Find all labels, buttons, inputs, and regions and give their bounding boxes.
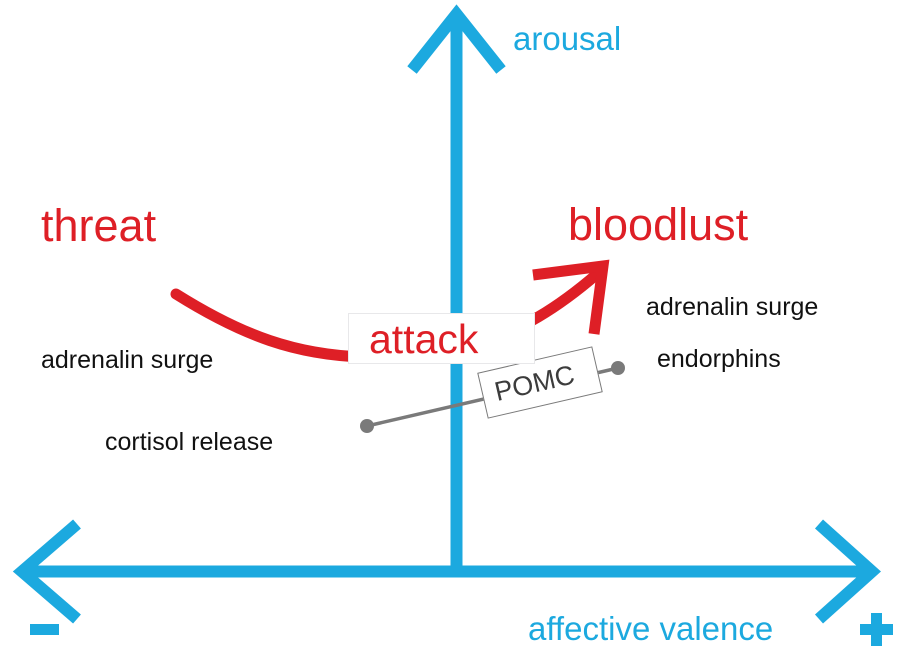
emotion-valence-arousal-diagram: arousal affective valence threat bloodlu… — [0, 0, 900, 665]
axis-label-affective-valence: affective valence — [528, 612, 773, 645]
pomc-label-text: POMC — [492, 361, 577, 406]
transition-label-attack-box: attack — [348, 313, 535, 364]
axis-label-arousal: arousal — [513, 22, 621, 55]
transition-label-attack-text: attack — [369, 319, 478, 360]
note-left-cortisol-release: cortisol release — [105, 430, 273, 455]
state-label-threat: threat — [41, 203, 156, 248]
note-right-endorphins: endorphins — [657, 347, 781, 372]
state-label-bloodlust: bloodlust — [568, 202, 748, 247]
note-left-adrenalin-surge: adrenalin surge — [41, 348, 213, 373]
note-right-adrenalin-surge: adrenalin surge — [646, 295, 818, 320]
